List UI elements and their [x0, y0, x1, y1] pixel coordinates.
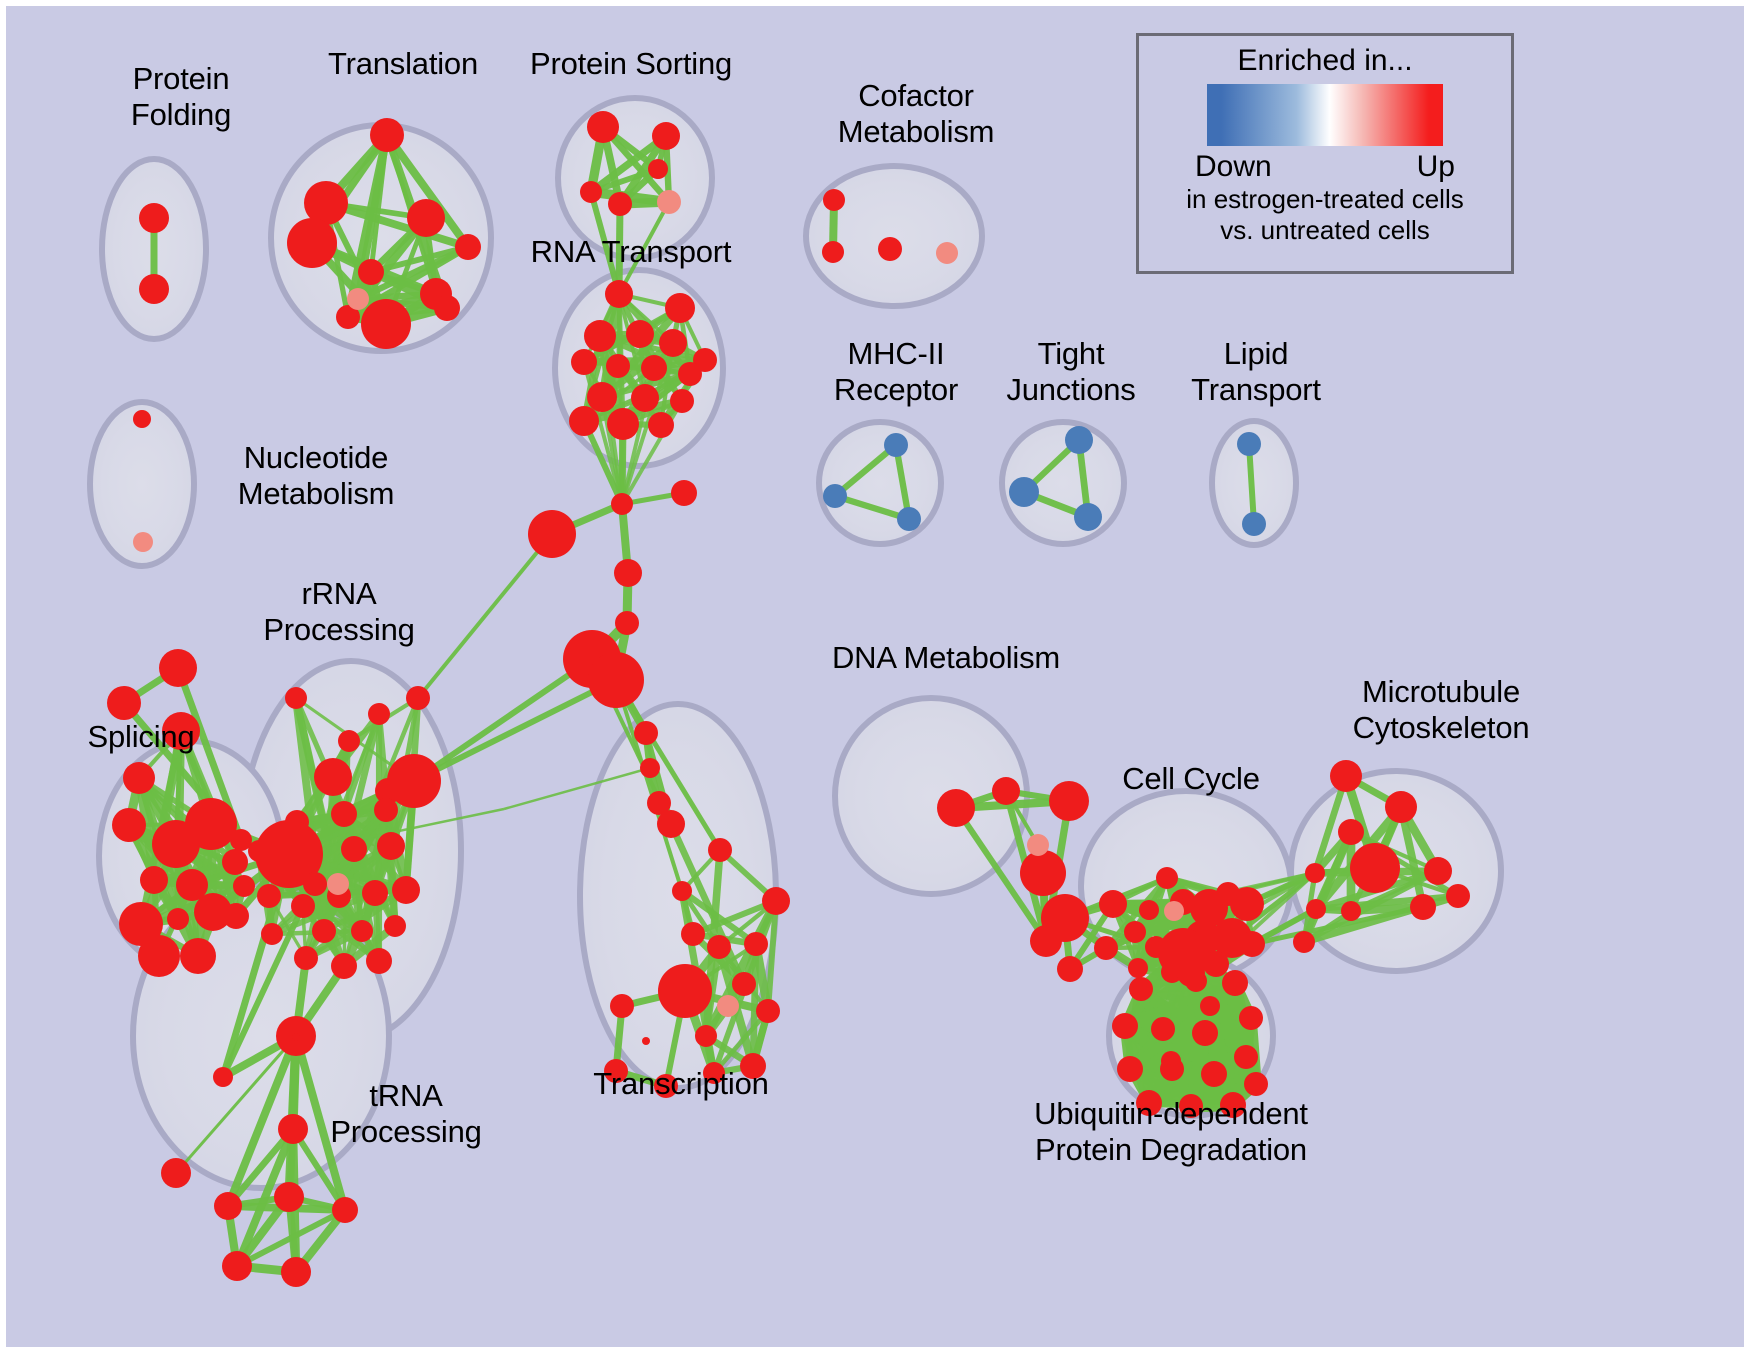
network-node: [368, 703, 390, 725]
network-node: [140, 866, 168, 894]
cluster-label-translation: Translation: [288, 46, 518, 82]
network-node: [455, 234, 481, 260]
network-node: [671, 480, 697, 506]
figure-root: Protein FoldingTranslationProtein Sortin…: [0, 0, 1750, 1360]
network-node: [1164, 901, 1184, 921]
network-node: [648, 412, 674, 438]
network-node: [640, 758, 660, 778]
network-node: [138, 935, 180, 977]
network-node: [392, 876, 420, 904]
network-node: [657, 190, 681, 214]
network-node: [587, 382, 617, 412]
legend-endpoints: Down Up: [1195, 150, 1455, 184]
network-node: [384, 915, 406, 937]
network-node: [327, 873, 349, 895]
cluster-label-protein-folding: Protein Folding: [86, 61, 276, 133]
network-node: [370, 118, 404, 152]
network-node: [678, 362, 702, 386]
network-node: [233, 875, 255, 897]
network-node: [1338, 819, 1364, 845]
network-node: [681, 922, 705, 946]
network-node: [261, 923, 283, 945]
network-node: [214, 1192, 242, 1220]
legend-down-label: Down: [1195, 150, 1272, 184]
cluster-label-dna-metabolism: DNA Metabolism: [821, 640, 1071, 676]
network-node: [1156, 867, 1178, 889]
network-node: [605, 280, 633, 308]
network-node: [744, 932, 768, 956]
network-node: [287, 218, 337, 268]
network-node: [285, 687, 307, 709]
network-node: [1424, 857, 1452, 885]
network-node: [607, 408, 639, 440]
network-node: [659, 329, 687, 357]
network-node: [387, 754, 441, 808]
network-node: [657, 810, 685, 838]
network-node: [1074, 503, 1102, 531]
network-edge: [414, 659, 592, 781]
network-node: [167, 908, 189, 930]
network-node: [407, 199, 445, 237]
network-node: [1049, 781, 1089, 821]
network-node: [1330, 760, 1362, 792]
network-node: [652, 122, 680, 150]
network-node: [1350, 843, 1400, 893]
network-edge: [418, 534, 552, 698]
network-node: [161, 1158, 191, 1188]
network-node: [732, 972, 756, 996]
network-node: [1139, 900, 1159, 920]
network-node: [123, 762, 155, 794]
network-node: [1341, 901, 1361, 921]
network-node: [185, 798, 237, 850]
network-node: [615, 611, 639, 635]
network-node: [377, 832, 405, 860]
network-node: [1237, 432, 1261, 456]
network-node: [1124, 921, 1146, 943]
cluster-label-microtubule: Microtubule Cytoskeleton: [1316, 674, 1566, 746]
network-node: [406, 686, 430, 710]
network-node: [1161, 1051, 1181, 1071]
network-node: [608, 192, 632, 216]
legend-title: Enriched in...: [1157, 44, 1493, 78]
network-node: [672, 881, 692, 901]
network-edge: [414, 680, 616, 781]
network-node: [1117, 1056, 1143, 1082]
network-node: [1099, 890, 1127, 918]
network-node: [658, 964, 712, 1018]
network-node: [992, 777, 1020, 805]
legend-subtitle: in estrogen-treated cells vs. untreated …: [1157, 184, 1493, 246]
network-node: [347, 288, 369, 310]
network-node: [1230, 887, 1264, 921]
network-node: [332, 1197, 358, 1223]
network-node: [1009, 477, 1039, 507]
network-node: [588, 652, 644, 708]
network-node: [1239, 931, 1265, 957]
network-node: [1239, 1006, 1263, 1030]
cluster-label-cofactor: Cofactor Metabolism: [801, 78, 1031, 150]
network-node: [756, 999, 780, 1023]
network-node: [695, 1025, 717, 1047]
network-node: [641, 355, 667, 381]
network-node: [1192, 1020, 1218, 1046]
network-node: [1293, 931, 1315, 953]
legend-up-label: Up: [1417, 150, 1455, 184]
network-node: [1177, 959, 1205, 987]
network-node: [358, 259, 384, 285]
network-node: [213, 1067, 233, 1087]
cluster-ellipse-mhc-ii: [819, 422, 941, 544]
network-node: [606, 354, 630, 378]
network-node: [937, 789, 975, 827]
network-node: [303, 872, 327, 896]
network-node: [884, 433, 908, 457]
network-node: [642, 1037, 650, 1045]
network-node: [708, 838, 732, 862]
network-node: [341, 836, 367, 862]
network-node: [1234, 1045, 1258, 1069]
network-node: [366, 948, 392, 974]
network-node: [614, 559, 642, 587]
network-node: [331, 953, 357, 979]
network-node: [1057, 956, 1083, 982]
cluster-label-lipid-transport: Lipid Transport: [1171, 336, 1341, 408]
cluster-label-trna-processing: tRNA Processing: [311, 1078, 501, 1150]
network-node: [292, 1033, 300, 1041]
network-node: [634, 721, 658, 745]
network-node: [434, 295, 460, 321]
network-node: [897, 507, 921, 531]
network-node: [665, 293, 695, 323]
network-node: [648, 159, 668, 179]
network-node: [361, 299, 411, 349]
network-node: [294, 946, 318, 970]
network-node: [291, 894, 315, 918]
network-node: [1094, 936, 1118, 960]
network-node: [351, 920, 373, 942]
cluster-label-mhc-ii: MHC-II Receptor: [806, 336, 986, 408]
cluster-label-protein-sorting: Protein Sorting: [511, 46, 751, 82]
network-node: [626, 320, 654, 348]
network-node: [610, 994, 634, 1018]
network-node: [717, 995, 739, 1017]
cluster-label-rna-transport: RNA Transport: [511, 234, 751, 270]
network-node: [374, 798, 398, 822]
network-node: [1129, 977, 1153, 1001]
network-node: [1201, 1061, 1227, 1087]
network-node: [1027, 834, 1049, 856]
network-node: [281, 1257, 311, 1287]
network-node: [1041, 894, 1089, 942]
network-node: [139, 274, 169, 304]
network-node: [1222, 970, 1248, 996]
network-node: [587, 111, 619, 143]
legend-color-bar: [1207, 84, 1443, 146]
cluster-label-cell-cycle: Cell Cycle: [1111, 761, 1271, 797]
network-node: [1128, 958, 1148, 978]
network-node: [878, 237, 902, 261]
network-node: [1385, 791, 1417, 823]
network-node: [823, 484, 847, 508]
network-node: [1306, 899, 1326, 919]
network-node: [569, 406, 599, 436]
network-node: [528, 510, 576, 558]
network-canvas: Protein FoldingTranslationProtein Sortin…: [6, 6, 1744, 1347]
cluster-label-splicing: Splicing: [61, 719, 221, 755]
network-node: [257, 884, 281, 908]
legend-box: Enriched in... Down Up in estrogen-treat…: [1136, 33, 1514, 274]
network-node: [584, 320, 616, 352]
network-node: [274, 1182, 304, 1212]
network-node: [823, 189, 845, 211]
network-node: [1065, 426, 1093, 454]
network-node: [222, 849, 248, 875]
network-node: [107, 686, 141, 720]
network-node: [133, 410, 151, 428]
network-node: [223, 903, 249, 929]
cluster-label-transcription: Transcription: [566, 1066, 796, 1102]
cluster-label-ubiquitin: Ubiquitin-dependent Protein Degradation: [996, 1096, 1346, 1168]
network-node: [1200, 996, 1220, 1016]
network-node: [670, 389, 694, 413]
network-node: [314, 758, 352, 796]
network-node: [278, 1114, 308, 1144]
network-node: [362, 880, 388, 906]
network-node: [1151, 1017, 1175, 1041]
network-node: [1446, 884, 1470, 908]
network-node: [139, 203, 169, 233]
network-node: [1112, 1013, 1138, 1039]
network-node: [112, 808, 146, 842]
network-node: [1244, 1072, 1268, 1096]
network-node: [1305, 863, 1325, 883]
network-node: [1410, 894, 1436, 920]
network-node: [222, 1251, 252, 1281]
network-node: [631, 384, 659, 412]
network-node: [159, 649, 197, 687]
network-node: [180, 938, 216, 974]
network-node: [1020, 850, 1066, 896]
network-node: [331, 801, 357, 827]
cluster-label-rrna-processing: rRNA Processing: [244, 576, 434, 648]
network-node: [571, 349, 597, 375]
network-node: [611, 493, 633, 515]
cluster-label-tight-junctions: Tight Junctions: [991, 336, 1151, 408]
network-node: [338, 730, 360, 752]
network-node: [580, 181, 602, 203]
cluster-label-nucleotide: Nucleotide Metabolism: [201, 440, 431, 512]
network-node: [936, 242, 958, 264]
network-node: [822, 241, 844, 263]
network-node: [1242, 512, 1266, 536]
network-node: [312, 919, 336, 943]
network-node: [707, 935, 731, 959]
network-node: [762, 887, 790, 915]
network-node: [133, 532, 153, 552]
